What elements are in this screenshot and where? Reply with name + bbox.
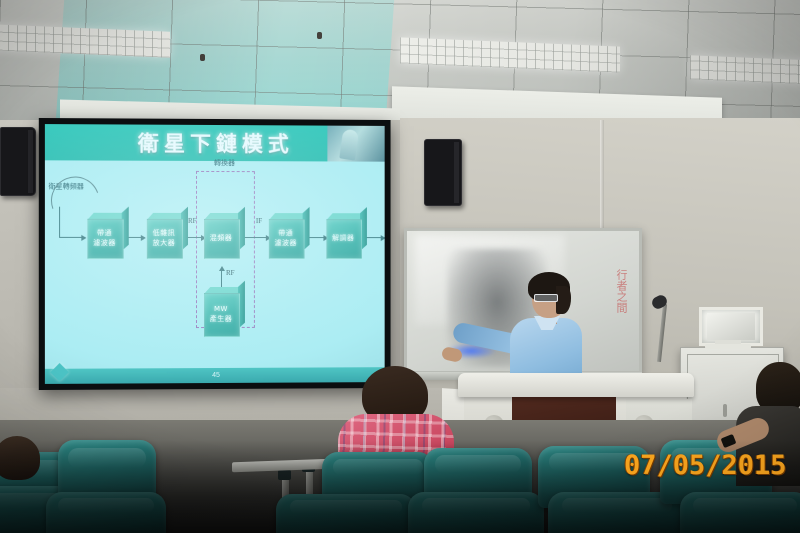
diagram-block: 解調器 [326,213,367,257]
block-label-line1: 低雜訊 [153,228,176,238]
block-diagram: 衛星轉頻器 轉換器 帶通濾波器 低雜訊放大器 RF [45,124,385,384]
projected-slide: 衛星下鏈模式 衛星轉頻器 轉換器 帶通濾波器 低雜訊放大器 [45,124,385,384]
signal-label-rf-in: RF [188,217,197,225]
diagram-arrow [129,237,145,238]
monitor-base [705,344,751,349]
block-label-line1: 帶通 [278,228,293,238]
diagram-block-oscillator: MW產生器 [204,287,245,335]
diagram-block: 帶通濾波器 [87,213,128,257]
block-label-line1: 混頻器 [210,233,232,243]
block-label-line1: MW [214,304,228,314]
signal-label-rf-lo: RF [226,269,235,277]
block-label-line2: 濾波器 [93,238,116,248]
diagram-group-label: 轉換器 [196,159,253,168]
podium-top-surface [458,373,694,397]
block-label-line2: 產生器 [210,314,232,324]
cabinet-handle [723,404,727,417]
signal-label-if: IF [256,217,262,225]
block-label-line2: 放大器 [153,238,176,248]
diagram-block-mixer: 混頻器 [204,213,245,257]
ceiling [0,0,800,132]
whiteboard-red-note: 行者之間 [607,243,629,339]
diagram-source-stem [59,207,60,237]
diagram-arrow [245,237,270,238]
diagram-arrow [188,237,205,238]
diagram-block: 低雜訊放大器 [147,213,188,257]
computer-monitor [697,307,759,349]
diagram-block: 帶通濾波器 [269,213,310,257]
block-label-line1: 解調器 [332,233,354,243]
diagram-arrow [59,237,85,238]
photo-lecture-hall: 衛星下鏈模式 衛星轉頻器 轉換器 帶通濾波器 低雜訊放大器 [0,0,800,533]
wall-speaker-right [424,139,462,206]
block-label-line1: 帶通 [97,228,112,238]
slide-page-number: 45 [45,367,385,384]
block-label-line2: 濾波器 [275,238,297,248]
diagram-arrow [367,237,385,238]
camera-date-stamp: 07/05/2015 [624,450,787,481]
presenter-glasses-icon [534,294,558,302]
projection-screen: 衛星下鏈模式 衛星轉頻器 轉換器 帶通濾波器 低雜訊放大器 [39,118,391,390]
diagram-arrow [310,237,328,238]
wall-speaker-left [0,127,36,196]
